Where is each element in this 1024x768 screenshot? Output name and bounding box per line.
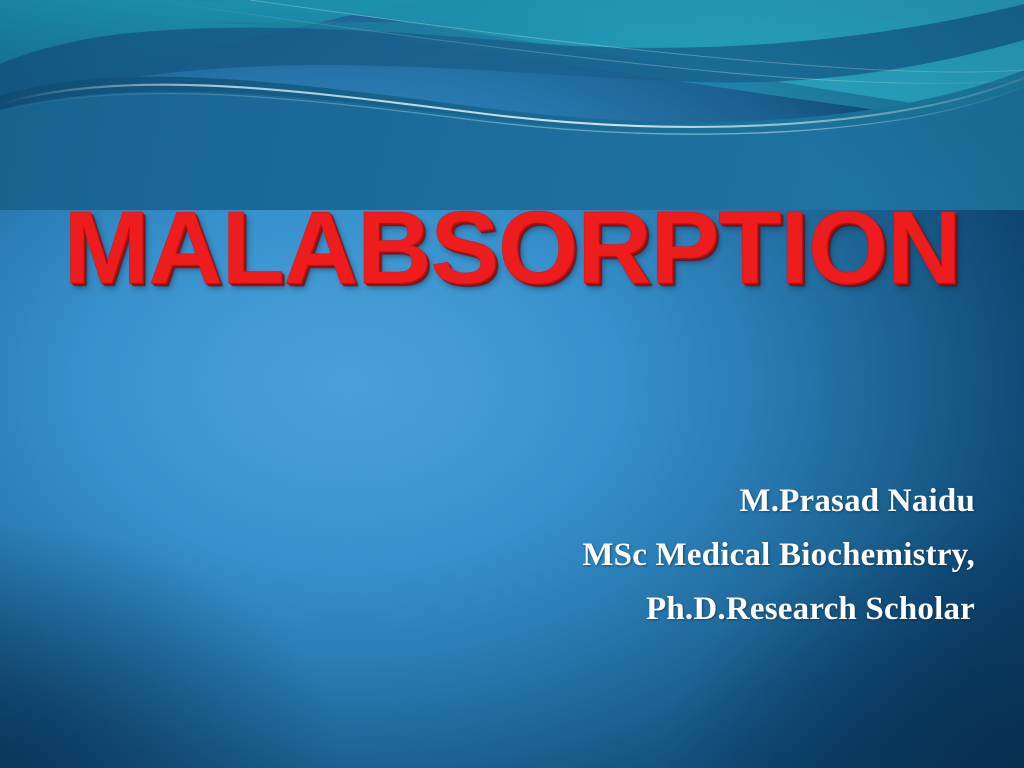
subtitle-line-author: M.Prasad Naidu xyxy=(275,474,975,528)
flow-ribbon-decoration xyxy=(0,0,1024,210)
subtitle-line-role: Ph.D.Research Scholar xyxy=(275,582,975,636)
subtitle-placeholder: M.Prasad Naidu MSc Medical Biochemistry,… xyxy=(275,474,975,636)
title-placeholder: MALABSORPTION xyxy=(0,196,1024,299)
presentation-slide: MALABSORPTION M.Prasad Naidu MSc Medical… xyxy=(0,0,1024,768)
slide-title: MALABSORPTION xyxy=(64,196,961,299)
subtitle-line-degree: MSc Medical Biochemistry, xyxy=(275,528,975,582)
